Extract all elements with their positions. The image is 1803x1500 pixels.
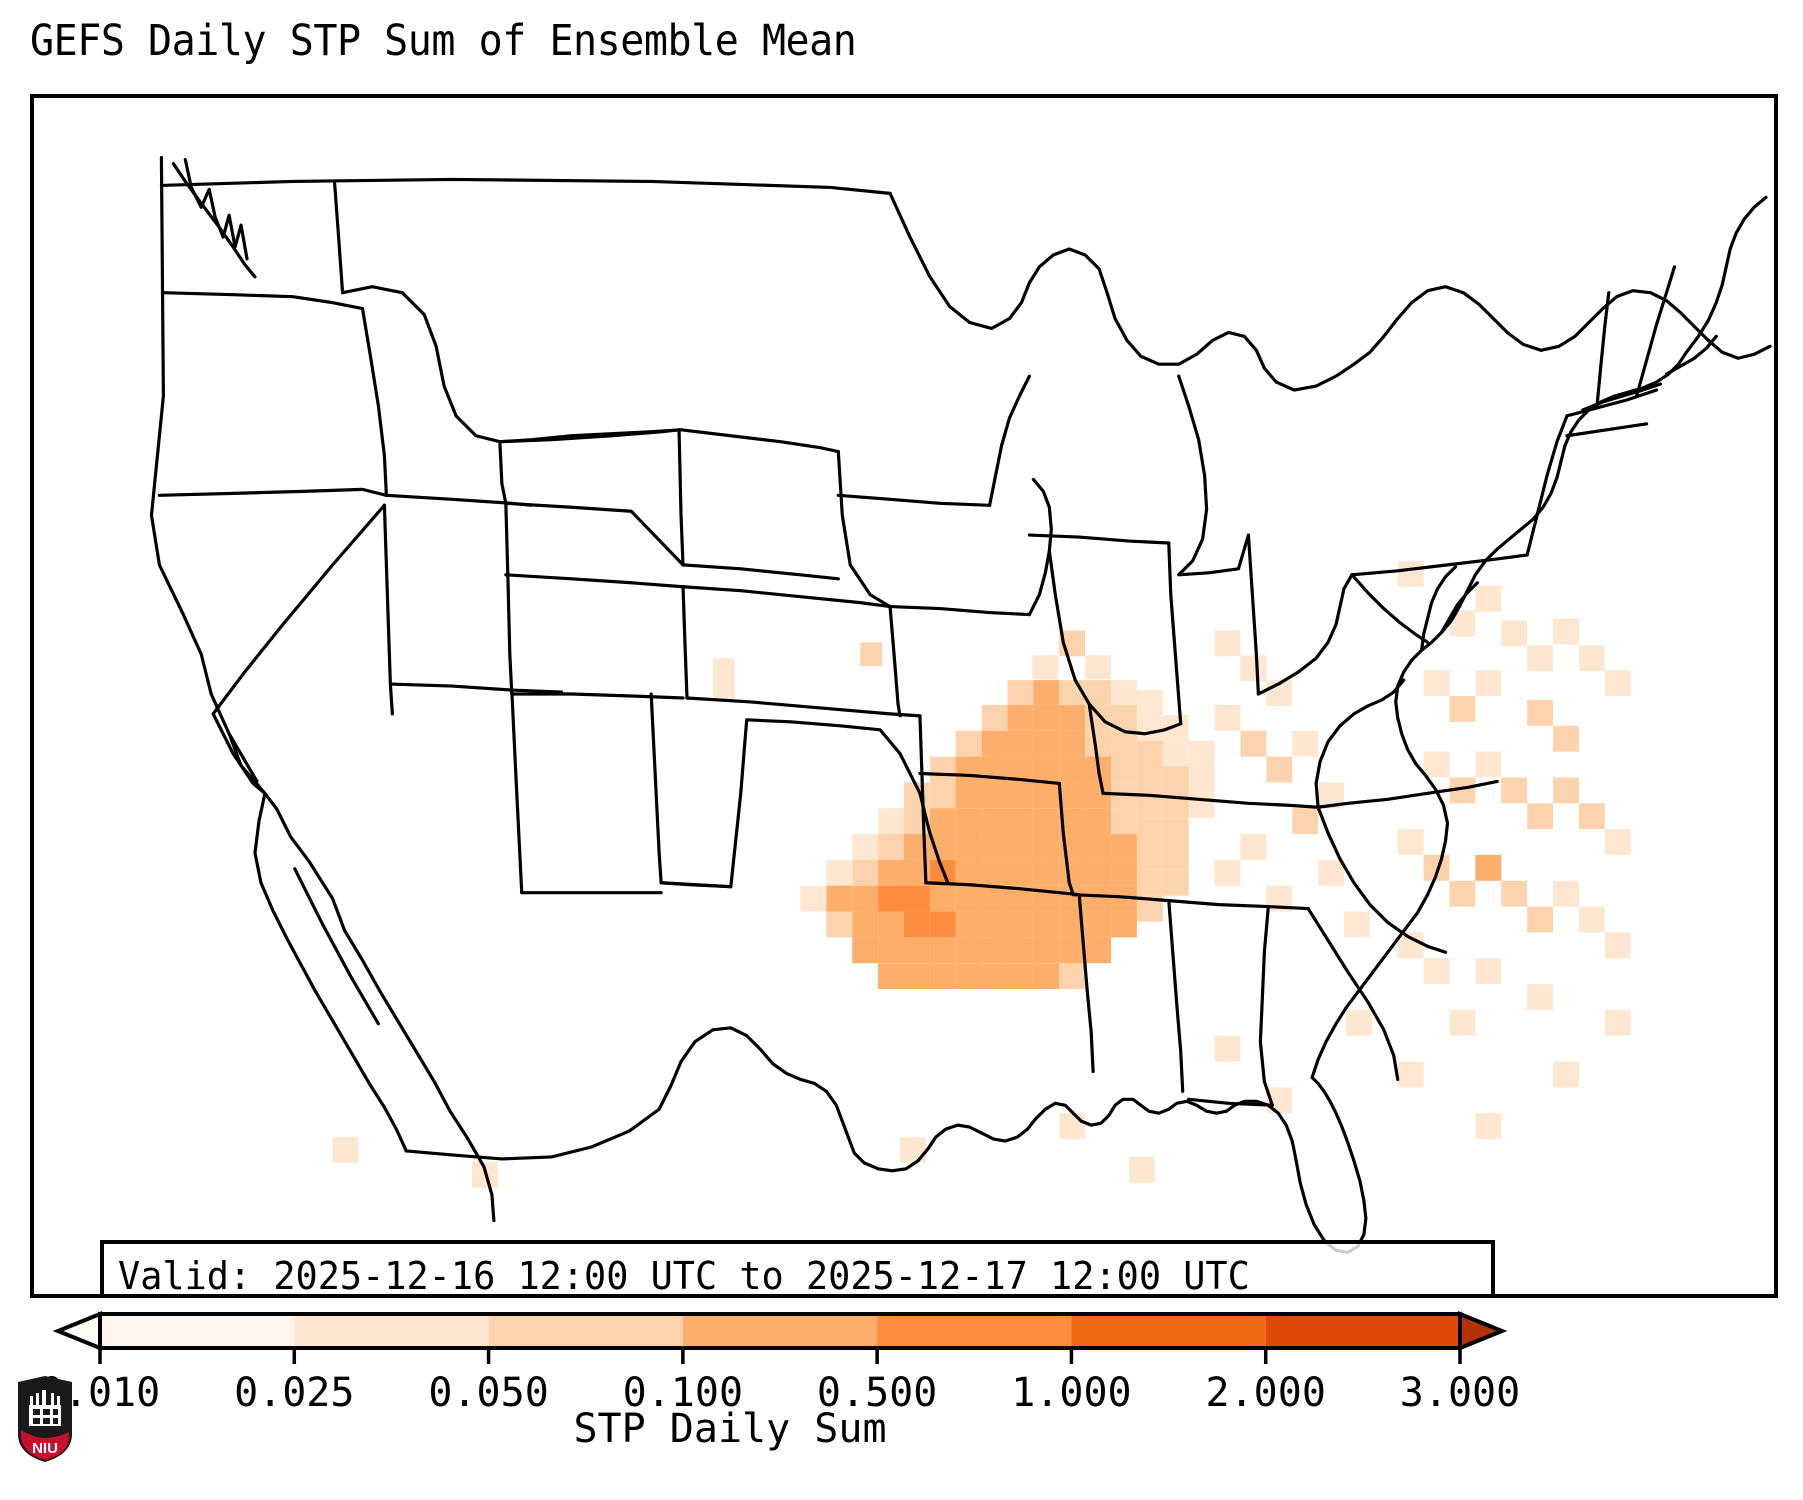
heatmap-cell [1085,655,1111,679]
heatmap-cell [1137,767,1163,793]
heatmap-cell [1008,937,1034,963]
niu-logo: NIU [14,1376,76,1462]
ne-ks-border [683,587,890,607]
colorbar-segment[interactable] [489,1314,683,1348]
heatmap-cell [1085,731,1111,757]
heatmap-cell [1398,561,1424,587]
heatmap-cell [878,886,904,912]
heatmap-cell [852,937,878,963]
heatmap-cell [1579,803,1605,829]
heatmap-cell [904,937,930,963]
heatmap-cell [333,1137,359,1163]
heatmap-cell [878,912,904,938]
heatmap-cell [1008,705,1034,731]
heatmap-cell [1033,731,1059,757]
heatmap-cell [826,912,852,938]
heatmap-cell [956,963,982,989]
heatmap-cell [956,834,982,860]
heatmap-cell [1163,844,1189,870]
heatmap-cell [1553,726,1579,752]
heatmap-cell [904,912,930,938]
heatmap-cell [930,757,956,783]
ne-states [1567,390,1657,416]
colorbar-segment[interactable] [100,1314,294,1348]
heatmap-cell [1215,1036,1241,1062]
heatmap-cell [1085,937,1111,963]
chesapeake-bay [1422,567,1456,650]
mn-wi-border [990,376,1030,505]
svg-text:NIU: NIU [32,1440,58,1457]
heatmap-cell [852,912,878,938]
colorbar-axis-label: STP Daily Sum [0,1406,1460,1452]
valid-time-text: Valid: 2025-12-16 12:00 UTC to 2025-12-1… [118,1250,1436,1298]
id-mt-border [343,287,500,442]
heatmap-cell [1553,881,1579,907]
heatmap-cell [1346,1010,1372,1036]
heatmap-cell [1085,912,1111,938]
baja-coast [255,793,406,1151]
heatmap-cell [1424,958,1450,984]
heatmap-cell [956,808,982,834]
heatmap-cell [1215,860,1241,886]
ny-ne-border [1527,416,1567,555]
heatmap-cell [1189,767,1215,793]
heatmap-cell [1579,645,1605,671]
heatmap-cell [982,834,1008,860]
heatmap-cell [930,886,956,912]
heatmap-cell [1475,855,1501,881]
map-canvas[interactable] [34,98,1774,1294]
az-nm-border [512,690,522,893]
gulf-california [295,869,379,1024]
heatmap-cell [1318,860,1344,886]
heatmap-cell [1189,792,1215,818]
heatmap-cell [1475,958,1501,984]
wa-or-border [163,293,362,309]
heatmap-cell [1137,690,1163,715]
heatmap-cell [1085,808,1111,834]
heatmap-cell [1240,655,1266,681]
heatmap-cell [904,886,930,912]
heatmap-cell [1527,803,1553,829]
heatmap-cell [1527,984,1553,1010]
heatmap-cell [1111,680,1137,705]
heatmap-cell [878,860,904,886]
heatmap-cell [1008,860,1034,886]
al-ga-border [1260,907,1272,1106]
ma-ct-border [1567,424,1647,436]
heatmap-cell [1111,731,1137,757]
heatmap-cell [1424,752,1450,778]
or-ca-border [159,489,386,495]
heatmap-cell [982,731,1008,757]
heatmap-cell [1008,680,1034,705]
heatmap-cell [826,886,852,912]
heatmap-cell [956,886,982,912]
co-nm-border [512,694,683,698]
heatmap-cell [1059,782,1085,808]
heatmap-cell [930,963,956,989]
wa-id-border [335,183,343,292]
colorbar-panel[interactable]: 0.0100.0250.0500.1000.5001.0002.0003.000 [0,1300,1803,1500]
heatmap-cell [1292,808,1318,834]
heatmap-cell [1059,937,1085,963]
heatmap-cell [900,1137,926,1163]
heatmap-cell [1527,645,1553,671]
heatmap-cell [956,782,982,808]
heatmap-cell [1033,963,1059,989]
heatmap-cell [1137,715,1163,741]
co-ks-border [683,587,687,698]
heatmap-cell [1605,1010,1631,1036]
heatmap-cell [1033,680,1059,705]
heatmap-cell [1240,834,1266,860]
heatmap-cell [1033,834,1059,860]
heatmap-cell [1475,1113,1501,1139]
colorbar-segment[interactable] [294,1314,488,1348]
heatmap-cell [852,860,878,886]
heatmap-cell [1111,912,1137,938]
heatmap-cell [852,886,878,912]
heatmap-cell [1424,670,1450,696]
heatmap-cell [930,808,956,834]
or-id-border [362,309,386,496]
ia-il-border [1029,479,1051,614]
heatmap-cell [982,782,1008,808]
colorbar-segments[interactable] [58,1314,1502,1348]
colorbar-ticks [100,1348,1460,1364]
heatmap-cell [1059,731,1085,757]
heatmap-cell [982,912,1008,938]
canada-border-49 [161,179,890,193]
heatmap-cell [1059,963,1085,989]
heatmap-cell [956,912,982,938]
long-island [1583,384,1661,410]
heatmap-cell [1008,963,1034,989]
heatmap-cell [800,886,826,912]
heatmap-cell [1137,870,1163,896]
heatmap-cell [1475,670,1501,696]
mt-wy-border [500,430,679,442]
heatmap-cell [1501,881,1527,907]
heatmap-cell [930,912,956,938]
heatmap-cell [713,658,735,700]
heatmap-cell [1008,912,1034,938]
heatmap-cell [1033,808,1059,834]
heatmap-cell [1008,808,1034,834]
heatmap-cell [826,860,852,886]
heatmap-cell [1240,731,1266,757]
heatmap-cell [1449,881,1475,907]
heatmap-cell [1008,782,1034,808]
heatmap-cell [1553,1062,1579,1088]
heatmap-cell [1111,808,1137,834]
heatmap-cell [1605,670,1631,696]
colorbar-svg[interactable]: 0.0100.0250.0500.1000.5001.0002.0003.000 [0,1300,1803,1420]
heatmap-cell [930,782,956,808]
mi-lake-huron [1179,376,1207,575]
ut-co-border [506,503,512,694]
heatmap-cell [1059,705,1085,731]
heatmap-cell [982,860,1008,886]
heatmap-cell [852,834,878,860]
heatmap-cell [1449,1010,1475,1036]
heatmap-cell [1085,834,1111,860]
nh-me-border [1637,267,1675,396]
heatmap-cell [1344,912,1370,938]
ut-az-nm-border [390,684,561,692]
heatmap-cell [982,937,1008,963]
il-in-border [1169,543,1181,724]
ia-mn-border [838,495,989,505]
heatmap-cell [1527,907,1553,933]
pa-ny-border [1352,555,1527,575]
heatmap-cell [1033,757,1059,783]
wy-co-south [506,575,683,587]
annotation-box: Valid: 2025-12-16 12:00 UTC to 2025-12-1… [100,1240,1495,1298]
heatmap-cell [1129,1157,1155,1183]
id-wy-border [500,442,506,504]
heatmap-cell [1032,655,1058,679]
heatmap-cell [1059,1113,1085,1139]
heatmap-cell [1475,752,1501,778]
heatmap-cell [1085,860,1111,886]
ne-ia-border [838,452,890,607]
heatmap-cell [1398,829,1424,855]
heatmap-cell [1605,932,1631,958]
heatmap-cell [1137,741,1163,767]
coast-west [151,158,493,1221]
heatmap-cell [1527,700,1553,726]
heatmap-cell [1033,912,1059,938]
heatmap-cell [1215,705,1241,731]
wy-sd-ne-border [679,430,683,565]
heatmap-cell [982,808,1008,834]
heatmap-cell [878,937,904,963]
heatmap-cell [1605,829,1631,855]
heatmap-cell [1008,834,1034,860]
map-panel[interactable]: Valid: 2025-12-16 12:00 UTC to 2025-12-1… [30,94,1778,1298]
heatmap-cell [982,963,1008,989]
heatmap-cell [1163,741,1189,767]
heatmap-cell [878,808,904,834]
nd-sd-border [681,430,838,452]
heatmap-cell [1137,818,1163,844]
heatmap-cell [1579,907,1605,933]
sd-ne-border [683,565,838,579]
nv-ca-border [213,505,384,714]
heatmap-cell [1215,630,1241,656]
heatmap-cell [1111,860,1137,886]
heatmap-cell [1085,782,1111,808]
heatmap-cell [1085,886,1111,912]
heatmap-cell [1033,860,1059,886]
colorbar-segment[interactable] [1266,1314,1460,1348]
heatmap-cell [956,731,982,757]
colorbar-segment[interactable] [683,1314,877,1348]
page-title: GEFS Daily STP Sum of Ensemble Mean [30,16,856,66]
heatmap-cell [1137,844,1163,870]
heatmap-cell [1033,782,1059,808]
heatmap-cell [1008,731,1034,757]
ks-ok-border [687,698,920,716]
heatmap-cell [1163,818,1189,844]
heatmap-cell [956,757,982,783]
vancouver-island [173,164,255,277]
heatmap-cell [1292,731,1318,757]
heatmap-cell [1449,696,1475,722]
wy-co-border [506,503,683,565]
heatmap-cell [1553,777,1579,803]
heatmap-cell [1033,937,1059,963]
heatmap-cell [1189,741,1215,767]
colorbar-over-arrow [1460,1314,1502,1348]
heatmap-cell [1111,834,1137,860]
heatmap-cell [982,886,1008,912]
heatmap-cell [1059,757,1085,783]
mi-oh-in-border [1179,535,1249,575]
mexico-west [229,734,257,782]
puget-sound [185,160,247,259]
ms-al-border [1169,901,1183,1092]
border-lakes [890,193,1770,390]
heatmap-cell [1033,705,1059,731]
heatmap-cell [956,937,982,963]
heatmap-cell [1163,870,1189,896]
ks-mo-border [890,607,900,716]
heatmap-cell [904,963,930,989]
heatmap-cell [1501,621,1527,647]
heatmap-cell [1501,777,1527,803]
nm-tx-border [651,694,731,887]
heatmap-cell [1266,757,1292,783]
ia-mo-border [890,607,1029,615]
heatmap-cell [878,963,904,989]
heatmap-cell [1059,860,1085,886]
heatmap-cell [1398,1062,1424,1088]
heatmap-cell [878,834,904,860]
heatmap-cell [1163,767,1189,793]
heatmap-cell [1111,757,1137,783]
colorbar-under-arrow [58,1314,100,1348]
heatmap-cell [1553,619,1579,645]
wv-oh-pa-border [1258,575,1352,694]
heatmap-cell [1475,586,1501,612]
heatmap-cell [860,642,882,666]
heatmap-cell [982,705,1008,731]
colorbar-segment[interactable] [877,1314,1071,1348]
heatmap-cell [930,937,956,963]
colorbar-segment[interactable] [1071,1314,1265,1348]
heatmap-cell [956,860,982,886]
